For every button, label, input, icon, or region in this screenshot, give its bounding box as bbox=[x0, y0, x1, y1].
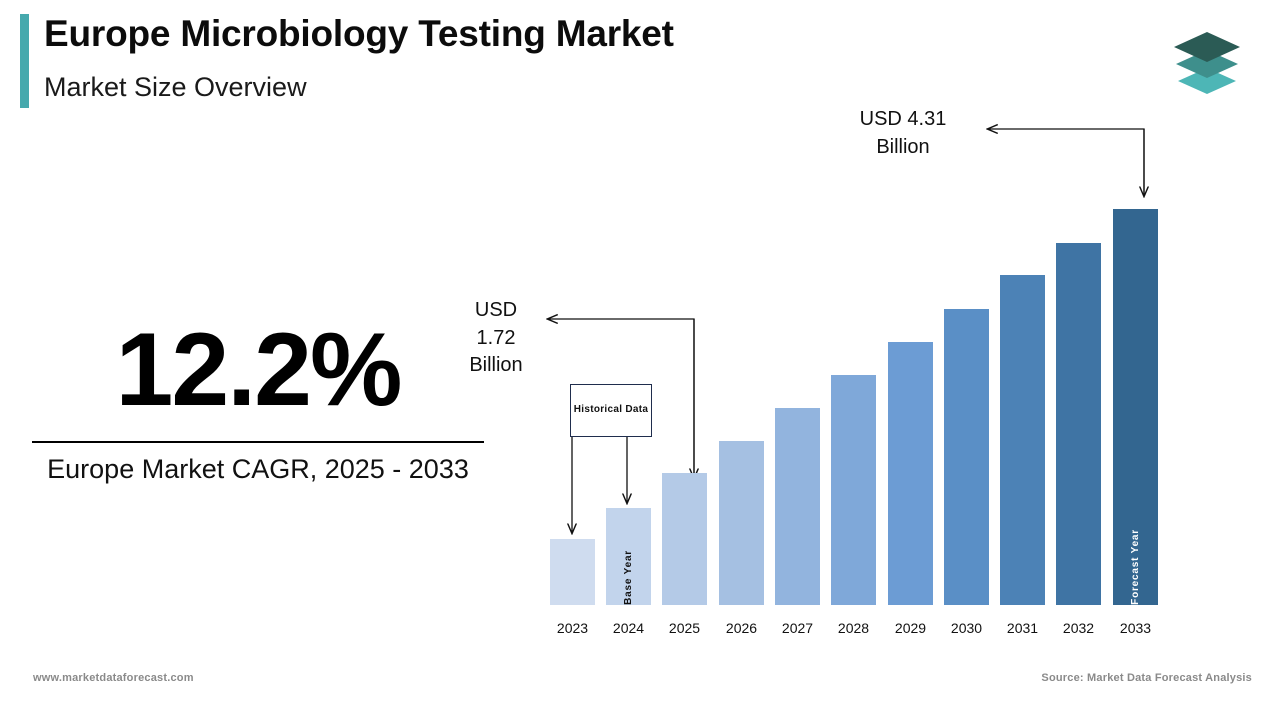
bar-2030 bbox=[944, 309, 989, 605]
x-axis-label-2032: 2032 bbox=[1056, 620, 1101, 636]
bar-2028 bbox=[831, 375, 876, 605]
x-axis-label-2030: 2030 bbox=[944, 620, 989, 636]
x-axis-label-2028: 2028 bbox=[831, 620, 876, 636]
bar-2023 bbox=[550, 539, 595, 605]
bar-2027 bbox=[775, 408, 820, 605]
bar-2033: Forecast Year bbox=[1113, 209, 1158, 605]
x-axis-label-2033: 2033 bbox=[1113, 620, 1158, 636]
footer-source: Source: Market Data Forecast Analysis bbox=[1041, 672, 1252, 684]
bar-2026 bbox=[719, 441, 764, 605]
bar-tag-holder: Forecast Year bbox=[1113, 209, 1158, 605]
bar-tag-holder: Base Year bbox=[606, 508, 651, 605]
bar-tag-2024: Base Year bbox=[623, 542, 634, 605]
footer-website[interactable]: www.marketdataforecast.com bbox=[33, 672, 194, 684]
x-axis-label-2031: 2031 bbox=[1000, 620, 1045, 636]
bar-2024: Base Year bbox=[606, 508, 651, 605]
infographic-canvas: Europe Microbiology Testing Market Marke… bbox=[0, 0, 1280, 720]
x-axis-label-2025: 2025 bbox=[662, 620, 707, 636]
bar-2032 bbox=[1056, 243, 1101, 605]
x-axis-label-2029: 2029 bbox=[888, 620, 933, 636]
bar-2031 bbox=[1000, 275, 1045, 605]
bar-chart: 2023Base Year202420252026202720282029203… bbox=[0, 0, 1280, 720]
x-axis-label-2027: 2027 bbox=[775, 620, 820, 636]
bar-2025 bbox=[662, 473, 707, 605]
x-axis-label-2023: 2023 bbox=[550, 620, 595, 636]
bar-tag-2033: Forecast Year bbox=[1130, 521, 1141, 605]
bar-2029 bbox=[888, 342, 933, 605]
x-axis-label-2024: 2024 bbox=[606, 620, 651, 636]
x-axis-label-2026: 2026 bbox=[719, 620, 764, 636]
